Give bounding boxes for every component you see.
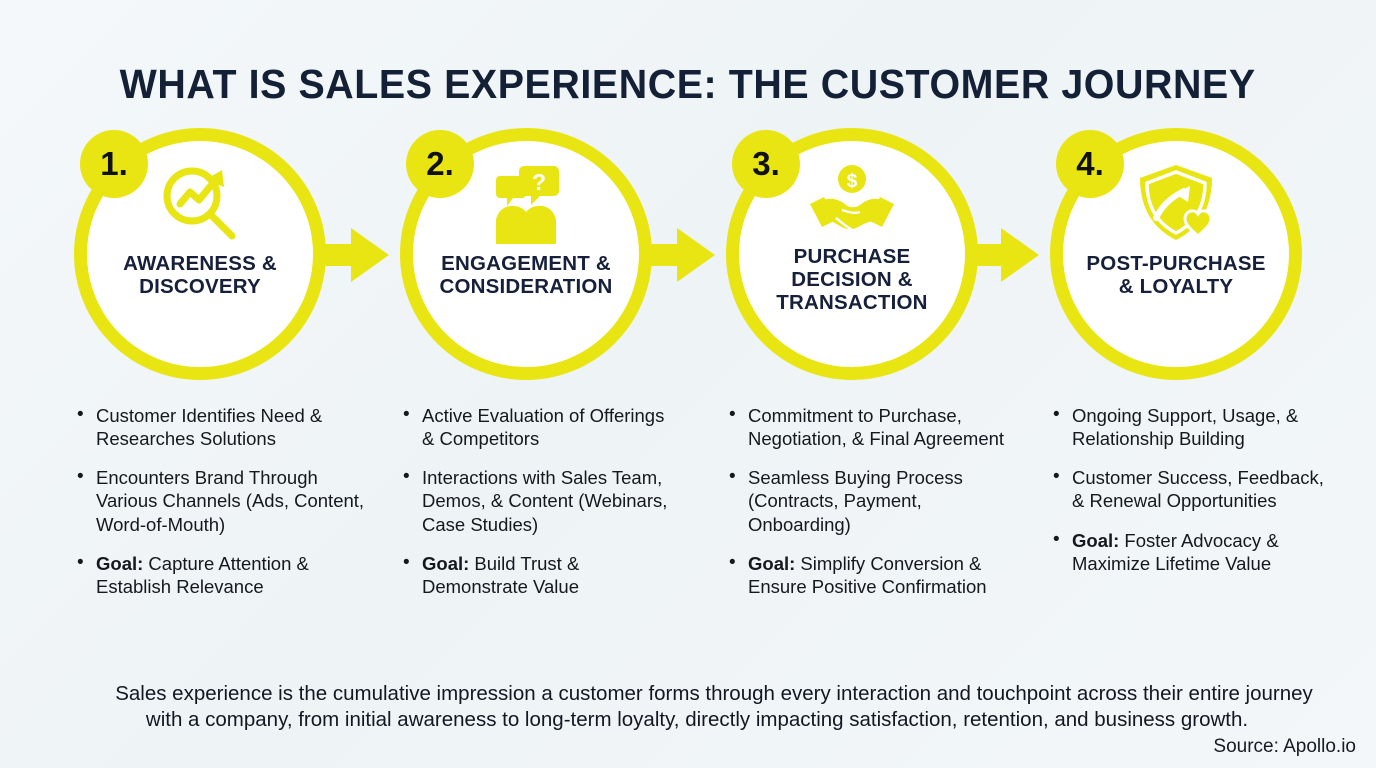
stage-label-line: PURCHASE <box>736 246 968 269</box>
list-item: Customer Success, Feedback, & Renewal Op… <box>1072 466 1340 512</box>
bullet-list: Active Evaluation of Offerings & Competi… <box>400 404 680 598</box>
bullet-text: Ongoing Support, Usage, & Relationship B… <box>1072 405 1298 449</box>
stage-label-line: DECISION & <box>736 269 968 292</box>
bullet-text: Seamless Buying Process (Contracts, Paym… <box>748 467 963 534</box>
list-item-goal: Goal: Foster Advocacy & Maximize Lifetim… <box>1072 529 1340 575</box>
stage-number-badge-3: 3. <box>732 130 800 198</box>
goal-label: Goal: <box>422 553 469 574</box>
bullet-text: Interactions with Sales Team, Demos, & C… <box>422 467 667 534</box>
bullet-text: Active Evaluation of Offerings & Competi… <box>422 405 664 449</box>
journey-stage-row: 1. AWARENESS & DISCOVERY <box>0 128 1376 388</box>
list-item: Encounters Brand Through Various Channel… <box>96 466 366 535</box>
stage-bullets-2: Active Evaluation of Offerings & Competi… <box>400 404 680 598</box>
stage-node-1[interactable]: 1. AWARENESS & DISCOVERY <box>74 128 326 380</box>
stage-number-badge-2: 2. <box>406 130 474 198</box>
bullet-list: Commitment to Purchase, Negotiation, & F… <box>726 404 1016 598</box>
flow-arrow-2 <box>641 224 715 286</box>
list-item-goal: Goal: Simplify Conversion & Ensure Posit… <box>748 552 1016 598</box>
stage-number-badge-1: 1. <box>80 130 148 198</box>
summary-paragraph: Sales experience is the cumulative impre… <box>72 681 1322 733</box>
stage-label-2: ENGAGEMENT & CONSIDERATION <box>410 253 642 299</box>
stage-bullets-1: Customer Identifies Need & Researches So… <box>74 404 366 598</box>
bullet-text: Customer Success, Feedback, & Renewal Op… <box>1072 467 1324 511</box>
list-item-goal: Goal: Capture Attention & Establish Rele… <box>96 552 366 598</box>
svg-text:?: ? <box>532 169 546 195</box>
magnifier-trend-icon <box>152 160 248 246</box>
stage-number-badge-4: 4. <box>1056 130 1124 198</box>
stage-node-2[interactable]: 2. ? ENGAGEMENT & CONSIDERATION <box>400 128 652 380</box>
title-container: WHAT IS SALES EXPERIENCE: THE CUSTOMER J… <box>0 34 1376 136</box>
list-item: Active Evaluation of Offerings & Competi… <box>422 404 680 450</box>
stage-label-line: CONSIDERATION <box>410 276 642 299</box>
goal-label: Goal: <box>96 553 143 574</box>
flow-arrow-1 <box>315 224 389 286</box>
conversation-heads-icon: ? <box>478 160 574 246</box>
list-item: Commitment to Purchase, Negotiation, & F… <box>748 404 1016 450</box>
bullet-list: Ongoing Support, Usage, & Relationship B… <box>1050 404 1340 575</box>
source-attribution: Source: Apollo.io <box>1213 736 1356 758</box>
goal-label: Goal: <box>1072 530 1119 551</box>
stage-node-3[interactable]: 3. $ PURCHASE DECISION & TRA <box>726 128 978 380</box>
goal-label: Goal: <box>748 553 795 574</box>
list-item: Seamless Buying Process (Contracts, Paym… <box>748 466 1016 535</box>
page-title: WHAT IS SALES EXPERIENCE: THE CUSTOMER J… <box>120 61 1256 108</box>
stage-label-line: TRANSACTION <box>736 292 968 315</box>
stage-details-columns: Customer Identifies Need & Researches So… <box>0 404 1376 649</box>
bullet-text: Commitment to Purchase, Negotiation, & F… <box>748 405 1004 449</box>
stage-label-1: AWARENESS & DISCOVERY <box>84 253 316 299</box>
bullet-text: Encounters Brand Through Various Channel… <box>96 467 364 534</box>
shield-heart-icon <box>1128 160 1224 246</box>
stage-label-line: DISCOVERY <box>84 276 316 299</box>
stage-bullets-4: Ongoing Support, Usage, & Relationship B… <box>1050 404 1340 575</box>
list-item: Ongoing Support, Usage, & Relationship B… <box>1072 404 1340 450</box>
stage-bullets-3: Commitment to Purchase, Negotiation, & F… <box>726 404 1016 598</box>
stage-node-4[interactable]: 4. POST-PURCHASE & LOYALTY <box>1050 128 1302 380</box>
list-item: Customer Identifies Need & Researches So… <box>96 404 366 450</box>
stage-label-line: & LOYALTY <box>1060 276 1292 299</box>
bullet-list: Customer Identifies Need & Researches So… <box>74 404 366 598</box>
flow-arrow-3 <box>965 224 1039 286</box>
list-item-goal: Goal: Build Trust & Demonstrate Value <box>422 552 680 598</box>
infographic-canvas: WHAT IS SALES EXPERIENCE: THE CUSTOMER J… <box>0 0 1376 768</box>
stage-label-line: POST-PURCHASE <box>1060 253 1292 276</box>
stage-label-4: POST-PURCHASE & LOYALTY <box>1060 253 1292 299</box>
stage-label-line: ENGAGEMENT & <box>410 253 642 276</box>
stage-label-line: AWARENESS & <box>84 253 316 276</box>
svg-text:$: $ <box>847 171 858 192</box>
handshake-coin-icon: $ <box>804 160 900 246</box>
bullet-text: Customer Identifies Need & Researches So… <box>96 405 322 449</box>
stage-label-3: PURCHASE DECISION & TRANSACTION <box>736 246 968 315</box>
list-item: Interactions with Sales Team, Demos, & C… <box>422 466 680 535</box>
